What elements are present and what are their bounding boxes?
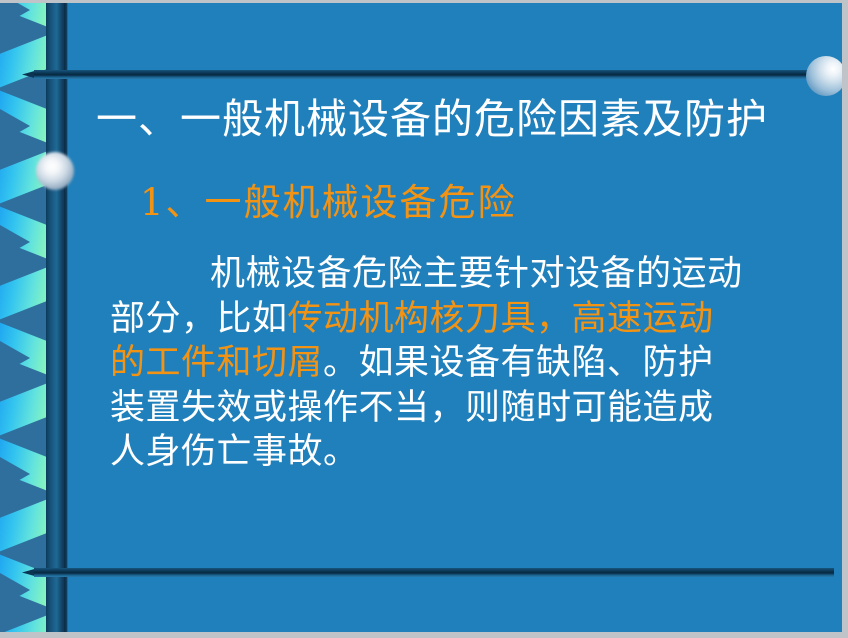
body-text-run: 。如果设备有缺陷、防护 bbox=[323, 343, 714, 383]
frame-edge-top bbox=[0, 0, 848, 3]
body-line: 机械设备危险主要针对设备的运动 bbox=[110, 252, 816, 297]
frame-edge-bottom bbox=[0, 632, 848, 638]
ribbon-segment bbox=[0, 611, 50, 632]
ribbon-segment bbox=[0, 31, 50, 89]
glow-sphere-icon bbox=[36, 152, 74, 190]
body-text-run: 部分，比如 bbox=[110, 299, 288, 339]
ribbon-segment bbox=[0, 495, 50, 553]
presentation-slide: 一、一般机械设备的危险因素及防护 1、一般机械设备危险 机械设备危险主要针对设备… bbox=[0, 0, 848, 638]
body-line: 的工件和切屑。如果设备有缺陷、防护 bbox=[110, 341, 816, 386]
slide-body-text: 机械设备危险主要针对设备的运动部分，比如传动机构核刀具，高速运动的工件和切屑。如… bbox=[110, 252, 816, 475]
spine-edge-line bbox=[64, 3, 67, 632]
body-text-run: 机械设备危险主要针对设备的运动 bbox=[210, 254, 743, 294]
body-line: 部分，比如传动机构核刀具，高速运动 bbox=[110, 297, 816, 342]
divider-bottom bbox=[34, 568, 834, 577]
body-text-highlight: 的工件和切屑 bbox=[110, 343, 323, 383]
body-text-run: 人身伤亡事故。 bbox=[110, 432, 359, 472]
frame-edge-right bbox=[842, 0, 848, 638]
body-text-run: 装置失效或操作不当，则随时可能造成 bbox=[110, 388, 714, 428]
body-line: 人身伤亡事故。 bbox=[110, 430, 816, 475]
slide-subtitle: 1、一般机械设备危险 bbox=[140, 180, 517, 226]
ribbon-segment bbox=[0, 263, 50, 321]
body-line: 装置失效或操作不当，则随时可能造成 bbox=[110, 386, 816, 431]
left-ribbon-decoration bbox=[0, 3, 50, 632]
divider-top bbox=[34, 70, 834, 79]
body-text-highlight: 传动机构核刀具，高速运动 bbox=[288, 299, 714, 339]
divider-bottom-bar bbox=[34, 568, 834, 577]
chrome-sphere-icon bbox=[806, 56, 846, 96]
slide-title: 一、一般机械设备的危险因素及防护 bbox=[96, 94, 816, 144]
ribbon-segment bbox=[0, 379, 50, 437]
divider-top-bar bbox=[34, 70, 834, 79]
